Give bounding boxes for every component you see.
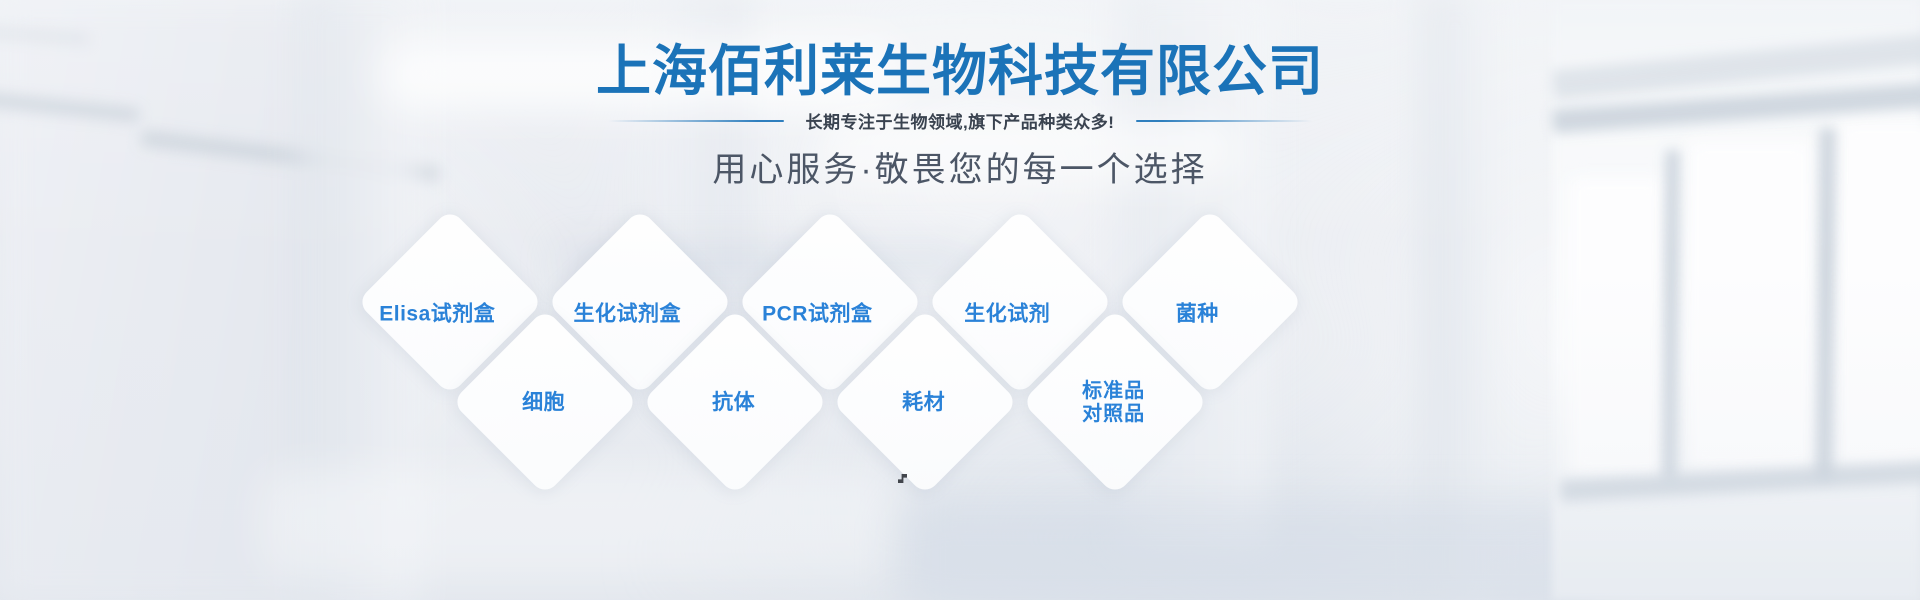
category-label: 生化试剂 [964,303,1050,327]
category-label: 抗体 [712,391,755,415]
category-diamond-grid: Elisa试剂盒生化试剂盒PCR试剂盒生化试剂菌种细胞抗体耗材标准品对照品 [0,0,1920,600]
category-label: 生化试剂盒 [574,303,682,327]
category-label: 细胞 [522,391,565,415]
category-label: Elisa试剂盒 [379,303,495,327]
hero-banner: 上海佰利莱生物科技有限公司 长期专注于生物领域,旗下产品种类众多! 用心服务·敬… [0,0,1920,600]
category-label: 标准品对照品 [1082,380,1145,426]
category-label: 耗材 [902,391,945,415]
category-label: PCR试剂盒 [762,303,872,327]
category-label: 菌种 [1176,303,1219,327]
